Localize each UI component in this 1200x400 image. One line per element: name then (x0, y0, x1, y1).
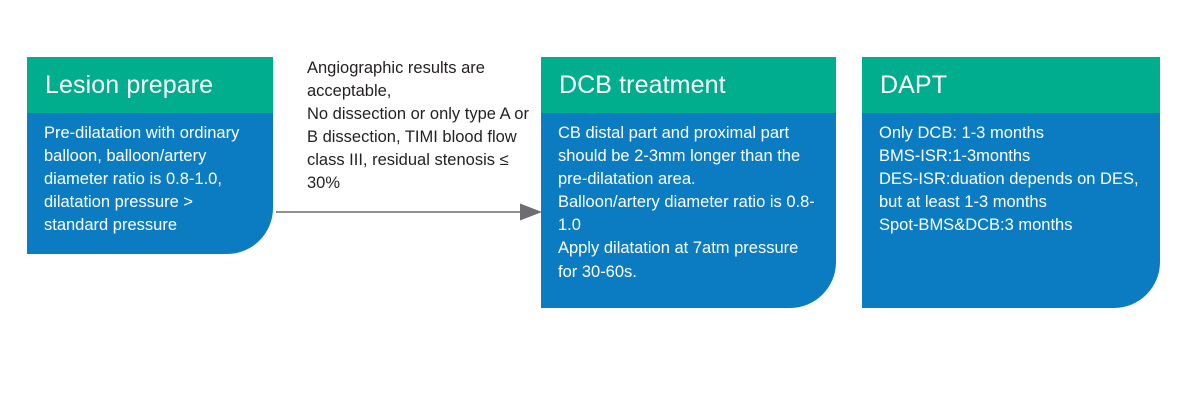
flow-box-header-dcb-treatment: DCB treatment (541, 57, 836, 113)
flow-box-dapt: DAPT Only DCB: 1-3 months BMS-ISR:1-3mon… (862, 57, 1160, 308)
diagram-canvas: Lesion prepare Pre-dilatation with ordin… (0, 0, 1200, 400)
flow-box-body-lesion-prepare: Pre-dilatation with ordinary balloon, ba… (27, 113, 273, 249)
flow-box-lesion-prepare: Lesion prepare Pre-dilatation with ordin… (27, 57, 273, 254)
flow-box-dcb-treatment: DCB treatment CB distal part and proxima… (541, 57, 836, 308)
flow-box-body-dcb-treatment: CB distal part and proximal part should … (541, 113, 836, 296)
flow-box-header-dapt: DAPT (862, 57, 1160, 113)
flow-box-header-lesion-prepare: Lesion prepare (27, 57, 273, 113)
condition-note-text: Angiographic results are acceptable, No … (307, 57, 539, 196)
arrow-right-icon (276, 196, 544, 228)
flow-box-body-dapt: Only DCB: 1-3 months BMS-ISR:1-3months D… (862, 113, 1160, 249)
